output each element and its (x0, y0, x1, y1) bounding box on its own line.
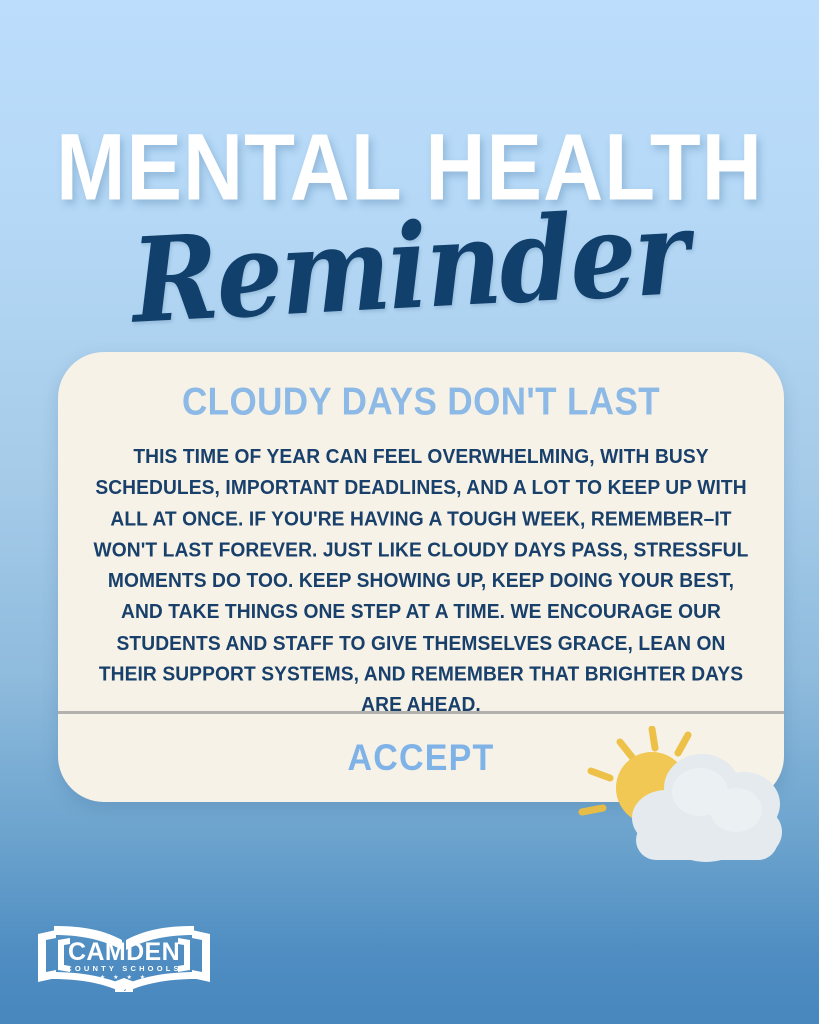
camden-county-schools-logo: CAMDEN COUNTY SCHOOLS ★ ★ ★ ★ (36, 916, 212, 992)
message-card-body: CLOUDY DAYS DON'T LAST THIS TIME OF YEAR… (58, 352, 784, 706)
logo-secondary-text: COUNTY SCHOOLS (66, 964, 182, 973)
logo-primary-text: CAMDEN (68, 938, 180, 966)
poster-header: MENTAL HEALTH Reminder (0, 118, 819, 328)
card-body-text: THIS TIME OF YEAR CAN FEEL OVERWHELMING,… (84, 442, 758, 721)
card-heading: CLOUDY DAYS DON'T LAST (84, 380, 758, 425)
sun-behind-cloud-icon (570, 726, 790, 886)
poster-canvas: MENTAL HEALTH Reminder CLOUDY DAYS DON'T… (0, 0, 819, 1024)
accept-button[interactable]: ACCEPT (348, 737, 495, 780)
